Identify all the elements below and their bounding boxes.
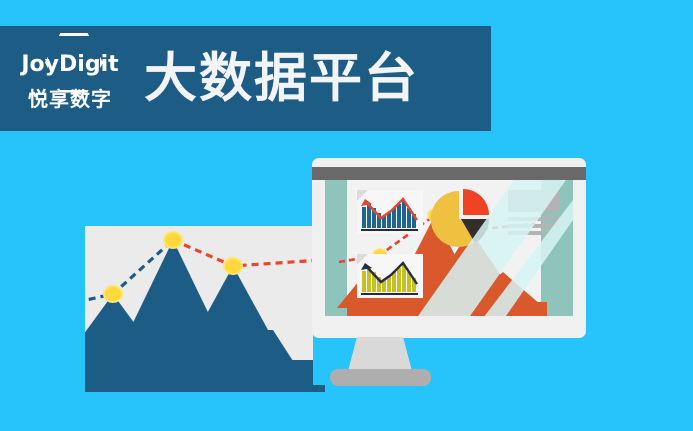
trend-line-red (173, 240, 313, 266)
page-title: 大数据平台 (144, 52, 419, 105)
monitor-screen (325, 180, 573, 316)
pie-chart (430, 188, 492, 250)
header-banner: JoyDigit 悦享数字 大数据平台 (0, 26, 491, 131)
brand-logo: JoyDigit 悦享数字 (14, 31, 126, 127)
monitor-stand-neck (348, 337, 412, 371)
data-marker (104, 286, 122, 302)
yellow-bar-chart-svg (357, 254, 423, 298)
monitor-top-bezel (312, 167, 586, 180)
monitor-body (312, 158, 586, 338)
text-block-line (508, 217, 560, 221)
data-marker (164, 232, 182, 248)
bar-chart-axis (361, 229, 418, 231)
mountain-foreground-base (85, 385, 325, 392)
logo-chinese-name: 悦享数字 (28, 89, 112, 109)
illustration-stage: JoyDigit 悦享数字 大数据平台 (0, 0, 693, 431)
orange-base-fill (347, 302, 547, 316)
text-block-image (508, 190, 560, 212)
blue-bar-chart-svg (357, 190, 423, 234)
monitor-stand-base (330, 369, 431, 386)
text-placeholder-block (508, 190, 560, 240)
bar-chart-axis (361, 293, 418, 295)
blue-bar-chart-card (357, 190, 423, 234)
text-block-line (508, 224, 560, 228)
yellow-bar-chart-card (357, 254, 423, 298)
foreground-mountain-overlap (85, 330, 325, 431)
pie-slice-red (463, 189, 489, 215)
logo-english-name: JoyDigit (21, 54, 118, 76)
data-marker (224, 258, 242, 274)
text-block-svg (508, 190, 560, 235)
mountain-foreground-right (165, 330, 313, 392)
text-block-line (508, 231, 560, 235)
